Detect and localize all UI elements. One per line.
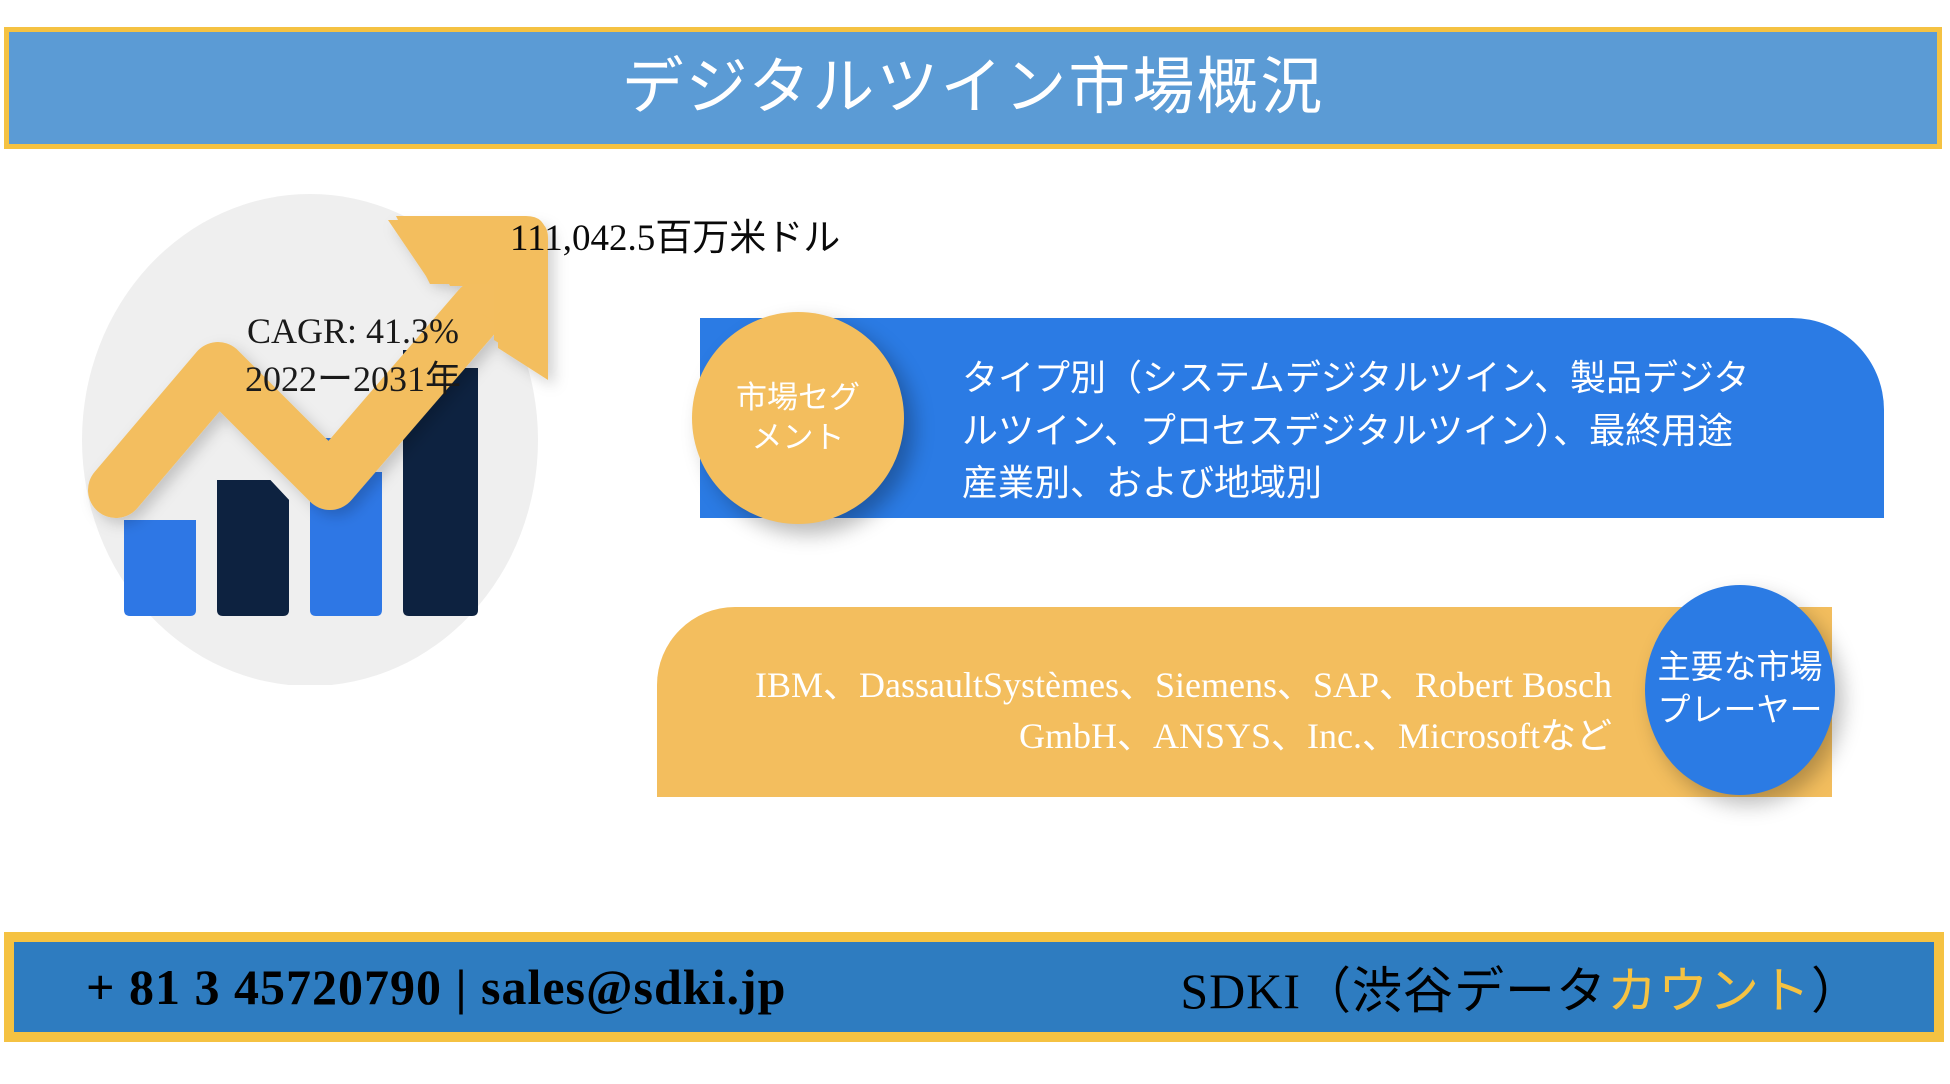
footer-contact-info[interactable]: + 81 3 45720790 | sales@sdki.jp — [86, 958, 786, 1016]
market-segment-badge: 市場セグメント — [692, 312, 904, 524]
key-players-badge: 主要な市場プレーヤー — [1645, 585, 1835, 795]
page-title: デジタルツイン市場概況 — [622, 57, 1325, 119]
market-segment-badge-label: 市場セグメント — [723, 378, 873, 457]
footer-brand-prefix: SDKI（渋谷データ — [1180, 963, 1607, 1019]
growth-chart-graphic — [78, 190, 678, 685]
footer-banner: + 81 3 45720790 | sales@sdki.jp SDKI（渋谷デ… — [4, 932, 1944, 1042]
market-value-label: 111,042.5百万米ドル — [510, 207, 840, 261]
footer-brand-suffix: ） — [1811, 963, 1862, 1019]
cagr-period: 2022ー2031年 — [193, 356, 513, 404]
market-segment-body: タイプ別（システムデジタルツイン、製品デジタルツイン、プロセスデジタルツイン）、… — [962, 352, 1762, 510]
cagr-annotation: CAGR: 41.3% 2022ー2031年 — [193, 308, 513, 403]
key-players-badge-label: 主要な市場プレーヤー — [1653, 647, 1828, 733]
key-players-body: IBM、DassaultSystèmes、Siemens、SAP、Robert … — [672, 660, 1612, 762]
footer-brand: SDKI（渋谷データカウント） — [1180, 951, 1862, 1023]
cagr-value: CAGR: 41.3% — [193, 308, 513, 356]
footer-brand-accent: カウント — [1607, 963, 1811, 1019]
header-banner: デジタルツイン市場概況 — [4, 27, 1942, 149]
